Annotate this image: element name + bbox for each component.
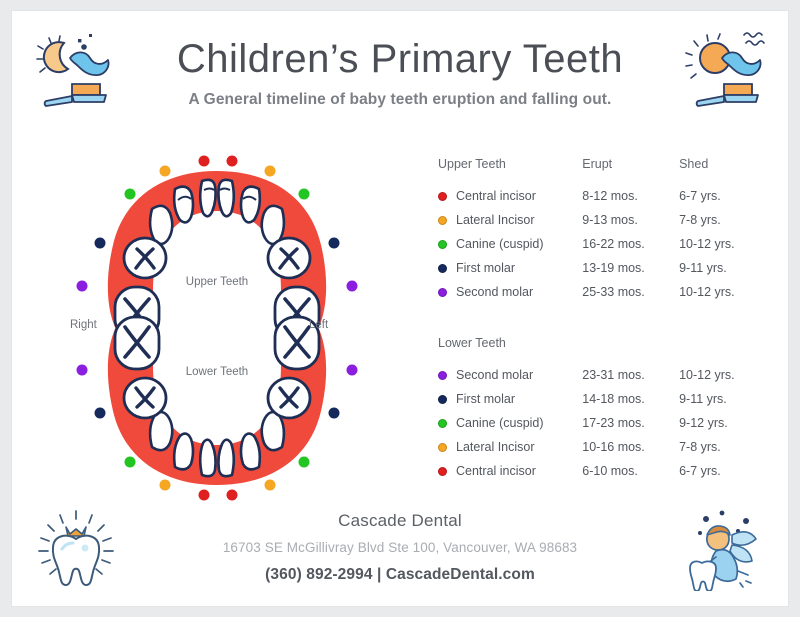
table-row: First molar 13-19 mos. 9-11 yrs. — [438, 256, 768, 280]
shed-value: 6-7 yrs. — [679, 189, 768, 203]
table-row: Central incisor 8-12 mos. 6-7 yrs. — [438, 184, 768, 208]
lower-arch — [77, 317, 358, 501]
practice-name: Cascade Dental — [12, 511, 788, 531]
shed-value: 10-12 yrs. — [679, 285, 768, 299]
table-row: Central incisor 6-10 mos. 6-7 yrs. — [438, 459, 768, 483]
erupt-value: 9-13 mos. — [582, 213, 679, 227]
color-dot — [438, 288, 447, 297]
practice-address: 16703 SE McGillivray Blvd Ste 100, Vanco… — [12, 540, 788, 555]
teeth-diagram: Upper Teeth — [52, 153, 382, 503]
table-row: Second molar 23-31 mos. 10-12 yrs. — [438, 363, 768, 387]
column-header-shed — [679, 336, 768, 350]
color-dot — [438, 192, 447, 201]
poster-card: Children’s Primary Teeth A General timel… — [12, 11, 788, 606]
practice-contact[interactable]: (360) 892-2994 | CascadeDental.com — [12, 566, 788, 584]
upper-arch: Upper Teeth — [77, 156, 358, 340]
shed-value: 7-8 yrs. — [679, 213, 768, 227]
color-dot — [438, 467, 447, 476]
erupt-value: 23-31 mos. — [582, 368, 679, 382]
right-side-label: Right — [70, 319, 97, 331]
color-dot — [438, 443, 447, 452]
shed-value: 9-12 yrs. — [679, 416, 768, 430]
column-header-teeth: Upper Teeth — [438, 157, 582, 171]
shed-value: 7-8 yrs. — [679, 440, 768, 454]
table-header-row: Lower Teeth — [438, 336, 768, 350]
lower-teeth-table: Lower Teeth Second molar 23-31 mos. 10-1… — [438, 336, 768, 483]
upper-teeth-table: Upper Teeth Erupt Shed Central incisor 8… — [438, 157, 768, 304]
erupt-value: 14-18 mos. — [582, 392, 679, 406]
erupt-value: 13-19 mos. — [582, 261, 679, 275]
table-row: Second molar 25-33 mos. 10-12 yrs. — [438, 280, 768, 304]
tooth-name: Lateral Incisor — [456, 213, 535, 227]
section-spacer — [438, 304, 768, 336]
tooth-name: Lateral Incisor — [456, 440, 535, 454]
tooth-name: Second molar — [456, 285, 533, 299]
tooth-name: First molar — [456, 392, 515, 406]
shed-value: 10-12 yrs. — [679, 237, 768, 251]
column-header-erupt — [582, 336, 679, 350]
erupt-value: 8-12 mos. — [582, 189, 679, 203]
column-header-erupt: Erupt — [582, 157, 679, 171]
column-header-teeth: Lower Teeth — [438, 336, 582, 350]
color-dot — [438, 419, 447, 428]
color-dot — [438, 371, 447, 380]
erupt-value: 10-16 mos. — [582, 440, 679, 454]
table-header-row: Upper Teeth Erupt Shed — [438, 157, 768, 171]
shed-value: 9-11 yrs. — [679, 261, 768, 275]
left-side-label: Left — [309, 319, 328, 331]
erupt-value: 16-22 mos. — [582, 237, 679, 251]
color-dot — [438, 216, 447, 225]
shed-value: 9-11 yrs. — [679, 392, 768, 406]
tooth-name: Central incisor — [456, 464, 536, 478]
table-row: Lateral Incisor 9-13 mos. 7-8 yrs. — [438, 208, 768, 232]
tooth-name: Canine (cuspid) — [456, 416, 544, 430]
page-title: Children’s Primary Teeth — [12, 37, 788, 82]
erupt-value: 17-23 mos. — [582, 416, 679, 430]
erupt-value: 25-33 mos. — [582, 285, 679, 299]
legend-panel: Upper Teeth Erupt Shed Central incisor 8… — [438, 157, 768, 483]
color-dot — [438, 395, 447, 404]
color-dot — [438, 240, 447, 249]
table-row: First molar 14-18 mos. 9-11 yrs. — [438, 387, 768, 411]
column-header-shed: Shed — [679, 157, 768, 171]
table-row: Canine (cuspid) 17-23 mos. 9-12 yrs. — [438, 411, 768, 435]
color-dot — [438, 264, 447, 273]
table-row: Lateral Incisor 10-16 mos. 7-8 yrs. — [438, 435, 768, 459]
erupt-value: 6-10 mos. — [582, 464, 679, 478]
lower-teeth-label: Lower Teeth — [186, 366, 248, 378]
tooth-name: Second molar — [456, 368, 533, 382]
upper-teeth-label: Upper Teeth — [186, 276, 248, 288]
page-subtitle: A General timeline of baby teeth eruptio… — [12, 91, 788, 109]
tooth-name: Central incisor — [456, 189, 536, 203]
table-row: Canine (cuspid) 16-22 mos. 10-12 yrs. — [438, 232, 768, 256]
shed-value: 10-12 yrs. — [679, 368, 768, 382]
shed-value: 6-7 yrs. — [679, 464, 768, 478]
tooth-name: Canine (cuspid) — [456, 237, 544, 251]
tooth-name: First molar — [456, 261, 515, 275]
footer: Cascade Dental 16703 SE McGillivray Blvd… — [12, 511, 788, 584]
